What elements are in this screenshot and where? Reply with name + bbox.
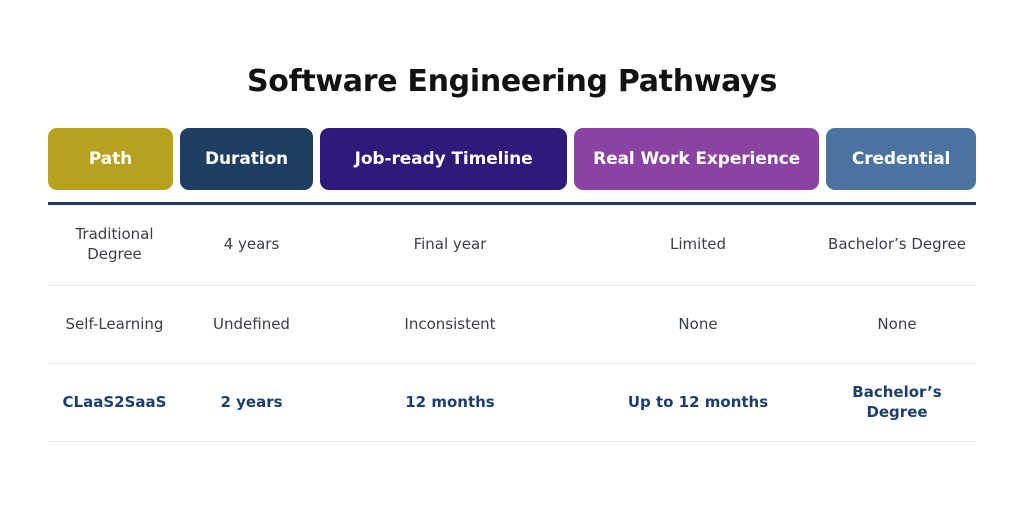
table-header-label: Real Work Experience — [593, 151, 800, 168]
table-row: Self-Learning Undefined Inconsistent Non… — [48, 286, 976, 364]
table-header-cell-job-ready-timeline: Job-ready Timeline — [320, 128, 567, 190]
table-header-label: Credential — [852, 151, 950, 168]
table-cell-duration: 2 years — [181, 393, 322, 413]
table-header-row: Path Duration Job-ready Timeline Real Wo… — [48, 128, 976, 190]
table-cell-job-ready-timeline: Final year — [322, 235, 578, 255]
table-cell-credential: Bachelor’s Degree — [818, 235, 976, 255]
table-header-label: Job-ready Timeline — [355, 151, 533, 168]
table-header-cell-real-work-experience: Real Work Experience — [574, 128, 819, 190]
table-cell-job-ready-timeline: 12 months — [322, 393, 578, 413]
table-cell-real-work-experience: None — [578, 315, 818, 335]
table-header-cell-duration: Duration — [180, 128, 313, 190]
table-cell-path: Traditional Degree — [48, 225, 181, 265]
page-title: Software Engineering Pathways — [0, 64, 1024, 99]
table-cell-real-work-experience: Limited — [578, 235, 818, 255]
table-row-highlighted: CLaaS2SaaS 2 years 12 months Up to 12 mo… — [48, 364, 976, 442]
table-header-cell-credential: Credential — [826, 128, 976, 190]
table-cell-job-ready-timeline: Inconsistent — [322, 315, 578, 335]
table-cell-credential: None — [818, 315, 976, 335]
page-root: Software Engineering Pathways Path Durat… — [0, 0, 1024, 512]
table-cell-duration: Undefined — [181, 315, 322, 335]
table-header-cell-path: Path — [48, 128, 173, 190]
comparison-table: Path Duration Job-ready Timeline Real Wo… — [48, 128, 976, 442]
table-row: Traditional Degree 4 years Final year Li… — [48, 205, 976, 286]
table-cell-real-work-experience: Up to 12 months — [578, 393, 818, 413]
table-cell-path: Self-Learning — [48, 315, 181, 335]
table-cell-path: CLaaS2SaaS — [48, 393, 181, 413]
table-cell-duration: 4 years — [181, 235, 322, 255]
table-cell-credential: Bachelor’s Degree — [818, 383, 976, 423]
table-header-label: Duration — [205, 151, 288, 168]
table-header-label: Path — [89, 151, 132, 168]
